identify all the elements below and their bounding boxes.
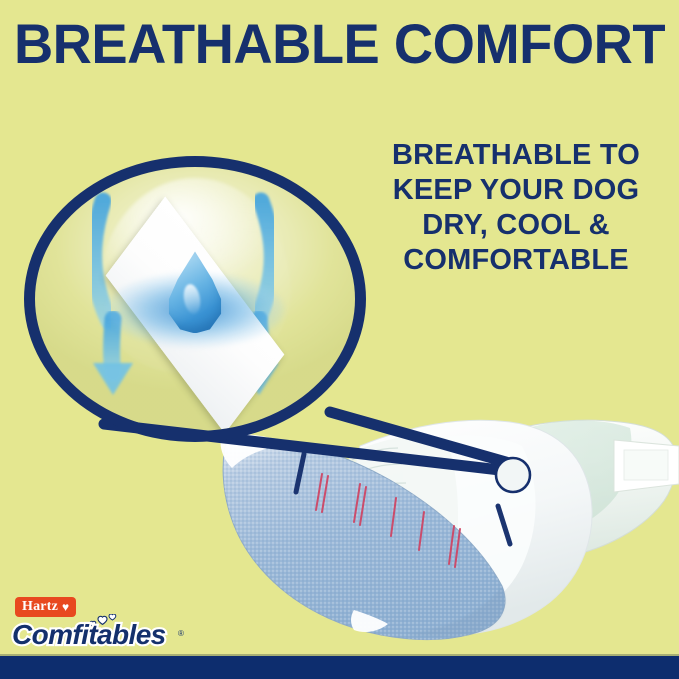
heart-icon: ♥ [62, 601, 69, 613]
magnifier-ring [24, 156, 366, 442]
bottom-bar [0, 656, 679, 679]
callout-target-circle [496, 458, 530, 492]
hartz-wordmark: Hartz [22, 599, 58, 614]
comfitables-logotype: Comfitables ® [10, 614, 190, 652]
brand-lockup: Hartz ♥ Comfitables ® [10, 597, 190, 652]
comfitables-wordmark: Comfitables ® [10, 614, 190, 652]
registered-mark: ® [178, 629, 184, 638]
magnifier-circle [24, 156, 366, 442]
poster-canvas: BREATHABLE COMFORT BREATHABLE TO KEEP YO… [0, 0, 679, 679]
comfitables-text-outline: Comfitables [12, 619, 166, 650]
